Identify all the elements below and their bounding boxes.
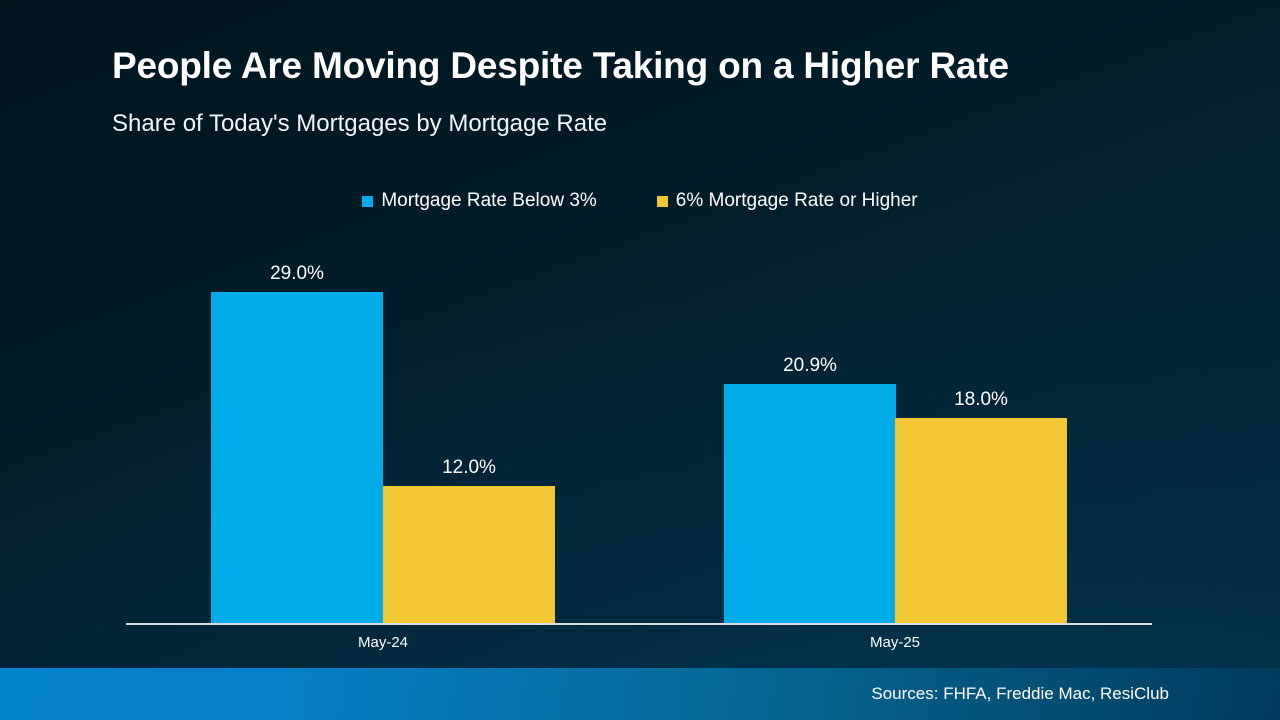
x-axis-tick-label: May-25 [815, 634, 975, 651]
bar-value-label: 29.0% [211, 263, 383, 285]
chart-canvas: People Are Moving Despite Taking on a Hi… [0, 0, 1280, 720]
sources-note: Sources: FHFA, Freddie Mac, ResiClub [871, 684, 1169, 704]
bar-may-25-6-percent-or-higher[interactable] [895, 418, 1067, 623]
bar-may-24-below-3-percent[interactable] [211, 292, 383, 623]
plot-area: 29.0%12.0%20.9%18.0%May-24May-25 [0, 0, 1280, 720]
x-axis-tick-label: May-24 [303, 634, 463, 651]
x-axis-line [126, 623, 1152, 625]
bar-may-25-below-3-percent[interactable] [724, 384, 896, 623]
bar-value-label: 18.0% [895, 389, 1067, 411]
bar-may-24-6-percent-or-higher[interactable] [383, 486, 555, 623]
bar-value-label: 20.9% [724, 355, 896, 377]
bar-value-label: 12.0% [383, 457, 555, 479]
